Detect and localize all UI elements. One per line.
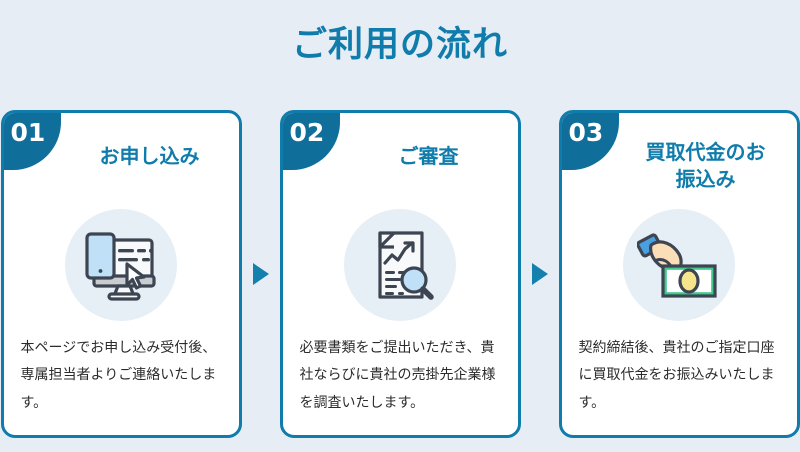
step-card-3: 03 買取代金のお 振込み [559, 110, 800, 438]
hand-holding-banknote-icon [637, 226, 721, 304]
step-body-3: 契約締結後、貴社のご指定口座に買取代金をお振込みいたします。 [562, 335, 797, 417]
step-body-1: 本ページでお申し込み受付後、専属担当者よりご連絡いたします。 [4, 335, 239, 417]
step-number-badge-3: 03 [561, 112, 619, 170]
step-card-1: 01 お申し込み [1, 110, 242, 438]
icon-circle-2 [344, 209, 456, 321]
step-number-badge-2: 02 [282, 112, 340, 170]
step-body-2: 必要書類をご提出いただき、貴社ならびに貴社の売掛先企業様を調査いたします。 [283, 335, 518, 417]
step-icon-wrap-3 [562, 209, 797, 321]
step-title-3: 買取代金のお 振込み [612, 139, 800, 193]
step-title-2: ご審査 [339, 143, 519, 170]
step-title-1: お申し込み [60, 143, 240, 170]
flow-steps-row: 01 お申し込み [0, 110, 800, 440]
step-title-3-line2: 振込み [612, 166, 800, 193]
desktop-monitor-smartphone-cursor-icon [78, 226, 164, 304]
arrow-right-icon [253, 263, 269, 285]
step-card-2: 02 ご審査 [280, 110, 521, 438]
step-icon-wrap-1 [4, 209, 239, 321]
icon-circle-3 [623, 209, 735, 321]
arrow-right-icon [532, 263, 548, 285]
icon-circle-1 [65, 209, 177, 321]
document-chart-magnifier-icon [360, 225, 440, 305]
step-number-badge-1: 01 [3, 112, 61, 170]
connector-arrow-1 [242, 110, 280, 438]
page-title: ご利用の流れ [0, 24, 800, 66]
connector-arrow-2 [521, 110, 559, 438]
step-icon-wrap-2 [283, 209, 518, 321]
step-title-3-line1: 買取代金のお [612, 139, 800, 166]
